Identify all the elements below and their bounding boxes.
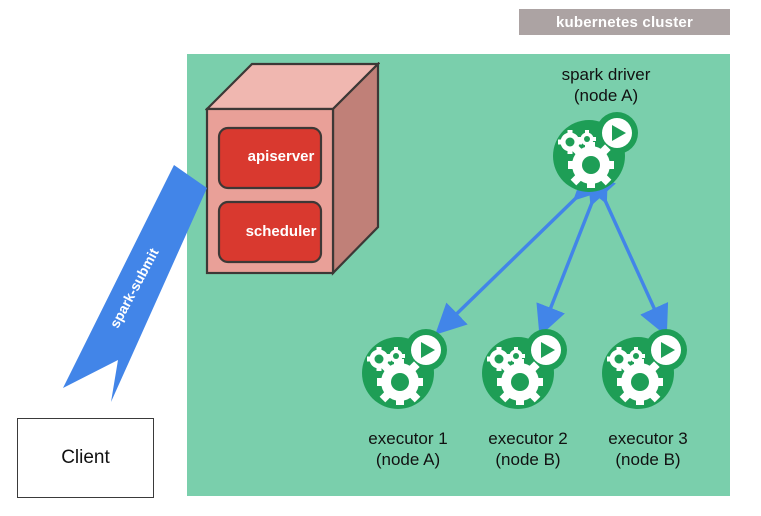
executor-1-title: executor 1 bbox=[343, 428, 473, 449]
executor-1-caption: executor 1 (node A) bbox=[343, 428, 473, 470]
diagram-canvas: kubernetes cluster apiserver scheduler s… bbox=[0, 0, 761, 516]
executor-2-caption: executor 2 (node B) bbox=[463, 428, 593, 470]
executor-2-subtitle: (node B) bbox=[463, 449, 593, 470]
client-label: Client bbox=[61, 447, 110, 469]
executor-3-caption: executor 3 (node B) bbox=[583, 428, 713, 470]
executor-2-title: executor 2 bbox=[463, 428, 593, 449]
spark-driver-title: spark driver bbox=[531, 64, 681, 85]
executor-2-icon bbox=[480, 329, 568, 411]
spark-driver-subtitle: (node A) bbox=[531, 85, 681, 106]
cluster-badge: kubernetes cluster bbox=[519, 9, 730, 35]
executor-3-icon bbox=[600, 329, 688, 411]
client-box: Client bbox=[17, 418, 154, 498]
scheduler-label: scheduler bbox=[223, 208, 339, 254]
executor-3-title: executor 3 bbox=[583, 428, 713, 449]
apiserver-label: apiserver bbox=[223, 133, 339, 179]
executor-1-icon bbox=[360, 329, 448, 411]
executor-1-subtitle: (node A) bbox=[343, 449, 473, 470]
spark-driver-caption: spark driver (node A) bbox=[531, 64, 681, 106]
cluster-badge-label: kubernetes cluster bbox=[556, 14, 693, 31]
executor-3-subtitle: (node B) bbox=[583, 449, 713, 470]
spark-driver-icon bbox=[551, 112, 639, 194]
